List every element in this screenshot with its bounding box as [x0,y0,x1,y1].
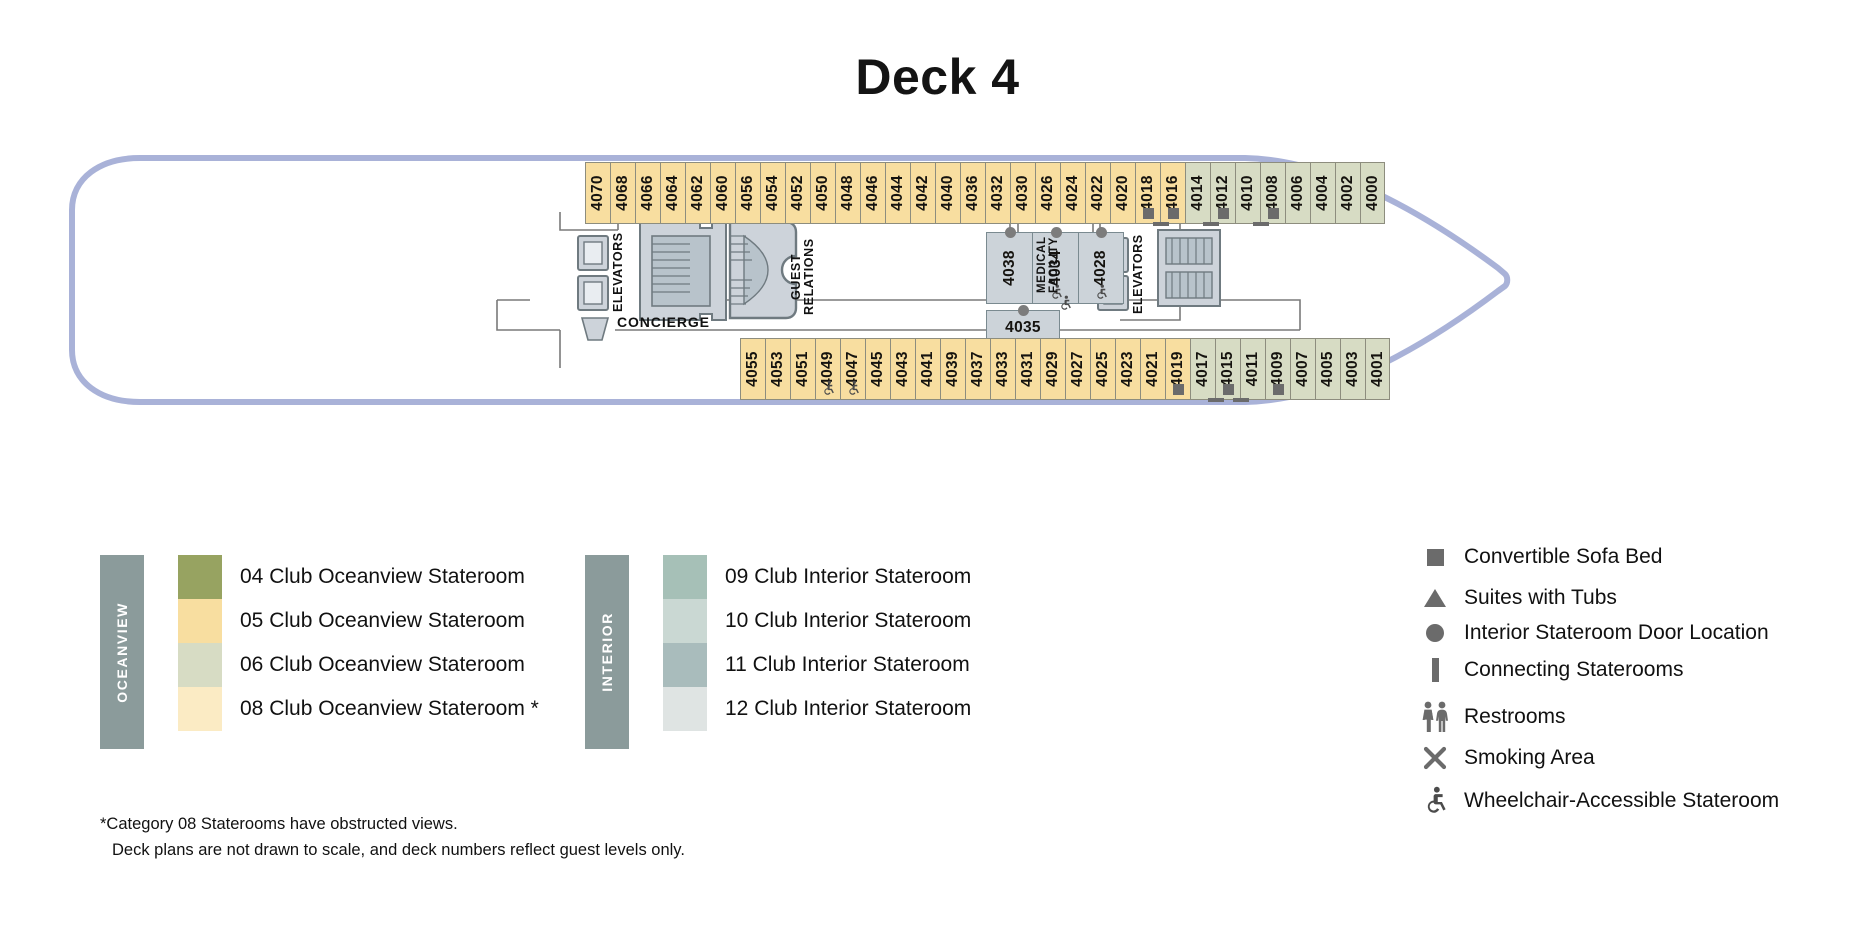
stateroom-4003[interactable]: 4003 [1340,338,1365,400]
stateroom-number: 4015 [1219,351,1237,387]
stateroom-4029[interactable]: 4029 [1040,338,1065,400]
bar-icon [1418,658,1452,682]
stateroom-4053[interactable]: 4053 [765,338,790,400]
stateroom-number: 4022 [1089,175,1107,211]
stateroom-number: 4011 [1244,352,1262,387]
stateroom-number: 4003 [1344,351,1362,387]
legend-symbol-item[interactable]: Wheelchair-Accessible Stateroom [1418,786,1779,816]
stateroom-number: 4031 [1019,351,1037,387]
stateroom-number: 4041 [919,351,937,387]
stateroom-4041[interactable]: 4041 [915,338,940,400]
stateroom-number: 4017 [1194,351,1212,387]
legend-symbol-item[interactable]: Interior Stateroom Door Location [1418,621,1769,645]
legend-interior-item[interactable]: 11 Club Interior Stateroom [663,643,970,687]
legend-oceanview-item[interactable]: 04 Club Oceanview Stateroom [178,555,525,599]
lower-stateroom-row: 4055405340514049404740454043404140394037… [740,338,1390,400]
stateroom-number: 4001 [1369,351,1387,387]
connecting-staterooms-marker [1203,222,1219,226]
connecting-staterooms-marker [1153,222,1169,226]
legend-symbol-label: Wheelchair-Accessible Stateroom [1464,789,1779,813]
stateroom-4070[interactable]: 4070 [585,162,610,224]
stateroom-number: 4025 [1094,351,1112,387]
convertible-sofa-bed-marker [1173,384,1184,395]
stateroom-4032[interactable]: 4032 [985,162,1010,224]
stateroom-4044[interactable]: 4044 [885,162,910,224]
stateroom-4068[interactable]: 4068 [610,162,635,224]
convertible-sofa-bed-marker [1223,384,1234,395]
stateroom-number: 4030 [1014,175,1032,211]
stateroom-number: 4006 [1289,175,1307,211]
legend-color-swatch [663,687,707,731]
triangle-icon [1418,589,1452,607]
wheelchair-icon [1418,786,1452,816]
stateroom-number: 4023 [1119,351,1137,387]
legend-interior-item[interactable]: 09 Club Interior Stateroom [663,555,971,599]
legend-color-swatch [663,599,707,643]
stateroom-4020[interactable]: 4020 [1110,162,1135,224]
stateroom-4012[interactable]: 4012 [1210,162,1235,224]
stateroom-number: 4000 [1364,175,1382,211]
legend-symbol-label: Connecting Staterooms [1464,658,1683,682]
stateroom-4037[interactable]: 4037 [965,338,990,400]
legend-group-bar-interior: INTERIOR [585,555,629,749]
stateroom-number: 4068 [614,175,632,211]
legend-symbol-label: Restrooms [1464,705,1566,729]
convertible-sofa-bed-marker [1168,208,1179,219]
legend-group-label: OCEANVIEW [114,602,130,703]
convertible-sofa-bed-marker [1273,384,1284,395]
stateroom-4015[interactable]: 4015 [1215,338,1240,400]
stateroom-number: 4062 [689,175,707,211]
legend-label: 12 Club Interior Stateroom [725,697,971,721]
stateroom-number: 4050 [814,175,832,211]
legend-label: 06 Club Oceanview Stateroom [240,653,525,677]
legend-symbol-label: Convertible Sofa Bed [1464,545,1662,569]
stateroom-4062[interactable]: 4062 [685,162,710,224]
stateroom-4043[interactable]: 4043 [890,338,915,400]
stateroom-4017[interactable]: 4017 [1190,338,1215,400]
stateroom-4054[interactable]: 4054 [760,162,785,224]
stateroom-4046[interactable]: 4046 [860,162,885,224]
legend-symbol-item[interactable]: Smoking Area [1418,745,1595,771]
x-icon [1418,745,1452,771]
stateroom-number: 4014 [1189,175,1207,211]
stateroom-number: 4004 [1314,175,1332,211]
stateroom-4052[interactable]: 4052 [785,162,810,224]
stateroom-4005[interactable]: 4005 [1315,338,1340,400]
label-medical-facility: MEDICAL FACILITY [1036,222,1060,308]
stateroom-number: 4042 [914,175,932,211]
stateroom-4064[interactable]: 4064 [660,162,685,224]
label-guest-relations: GUEST RELATIONS [790,222,816,332]
legend-symbol-label: Smoking Area [1464,746,1595,770]
legend-color-swatch [178,687,222,731]
restrooms-icon [1418,701,1452,733]
stateroom-4056[interactable]: 4056 [735,162,760,224]
stateroom-number: 4046 [864,175,882,211]
stateroom-4055[interactable]: 4055 [740,338,765,400]
legend-label: 08 Club Oceanview Stateroom * [240,697,539,721]
stateroom-4039[interactable]: 4039 [940,338,965,400]
stateroom-number: 4020 [1114,175,1132,211]
stateroom-4008[interactable]: 4008 [1260,162,1285,224]
wheelchair-icon [845,380,861,396]
interior-stateroom-door-marker [1018,305,1029,316]
convertible-sofa-bed-marker [1268,208,1279,219]
legend-label: 10 Club Interior Stateroom [725,609,971,633]
stateroom-4051[interactable]: 4051 [790,338,815,400]
stateroom-number: 4027 [1069,351,1087,387]
stateroom-4004[interactable]: 4004 [1310,162,1335,224]
stateroom-4040[interactable]: 4040 [935,162,960,224]
stateroom-number: 4029 [1044,351,1062,387]
stateroom-4018[interactable]: 4018 [1135,162,1160,224]
legend-group-label: INTERIOR [599,612,615,692]
square-icon [1418,549,1452,566]
stateroom-4033[interactable]: 4033 [990,338,1015,400]
stateroom-4007[interactable]: 4007 [1290,338,1315,400]
legend-symbol-label: Suites with Tubs [1464,586,1617,610]
stateroom-4009[interactable]: 4009 [1265,338,1290,400]
stateroom-4025[interactable]: 4025 [1090,338,1115,400]
connecting-staterooms-marker [1208,398,1224,402]
stateroom-number: 4033 [994,351,1012,387]
stateroom-number: 4054 [764,175,782,211]
stateroom-number: 4008 [1264,175,1282,211]
legend-oceanview-item[interactable]: 06 Club Oceanview Stateroom [178,643,525,687]
stateroom-4028[interactable]: 4028 [1078,232,1124,304]
stateroom-4045[interactable]: 4045 [865,338,890,400]
stateroom-4021[interactable]: 4021 [1140,338,1165,400]
stateroom-number: 4009 [1269,351,1287,387]
stateroom-4019[interactable]: 4019 [1165,338,1190,400]
legend-symbol-item[interactable]: Convertible Sofa Bed [1418,545,1662,569]
stateroom-number: 4055 [744,351,762,387]
stateroom-4050[interactable]: 4050 [810,162,835,224]
convertible-sofa-bed-marker [1143,208,1154,219]
upper-stateroom-row: 4070406840664064406240604056405440524050… [585,162,1385,224]
circle-icon [1418,624,1452,642]
stateroom-4022[interactable]: 4022 [1085,162,1110,224]
stateroom-number: 4066 [639,175,657,211]
stateroom-number: 4026 [1039,175,1057,211]
stateroom-4048[interactable]: 4048 [835,162,860,224]
legend-label: 11 Club Interior Stateroom [725,653,970,677]
wheelchair-icon [1093,284,1109,300]
stateroom-4024[interactable]: 4024 [1060,162,1085,224]
stateroom-4038[interactable]: 4038 [986,232,1032,304]
stateroom-4026[interactable]: 4026 [1035,162,1060,224]
stateroom-number: 4048 [839,175,857,211]
footnote-line-2: Deck plans are not drawn to scale, and d… [100,838,685,864]
legend-label: 04 Club Oceanview Stateroom [240,565,525,589]
page-title: Deck 4 [0,48,1875,106]
stateroom-4047[interactable]: 4047 [840,338,865,400]
stateroom-4001[interactable]: 4001 [1365,338,1390,400]
stateroom-number: 4012 [1214,175,1232,211]
stateroom-4016[interactable]: 4016 [1160,162,1185,224]
label-elevators-aft: ELEVATORS [612,232,625,312]
stateroom-number: 4051 [794,351,812,387]
legend-interior-item[interactable]: 12 Club Interior Stateroom [663,687,971,731]
stateroom-4000[interactable]: 4000 [1360,162,1385,224]
stateroom-number: 4038 [1001,250,1019,286]
stateroom-number: 4021 [1144,351,1162,387]
stateroom-4060[interactable]: 4060 [710,162,735,224]
stateroom-number: 4018 [1139,175,1157,211]
wheelchair-icon [820,380,836,396]
stateroom-4036[interactable]: 4036 [960,162,985,224]
stateroom-number: 4002 [1339,175,1357,211]
legend-symbol-item[interactable]: Suites with Tubs [1418,586,1617,610]
label-elevators-fwd: ELEVATORS [1132,234,1145,314]
legend-label: 09 Club Interior Stateroom [725,565,971,589]
stateroom-number: 4028 [1092,250,1110,286]
stateroom-number: 4040 [939,175,957,211]
connecting-staterooms-marker [1233,398,1249,402]
stateroom-4049[interactable]: 4049 [815,338,840,400]
legend-interior-item[interactable]: 10 Club Interior Stateroom [663,599,971,643]
legend-color-swatch [178,555,222,599]
legend-symbol-label: Interior Stateroom Door Location [1464,621,1769,645]
stateroom-4023[interactable]: 4023 [1115,338,1140,400]
convertible-sofa-bed-marker [1218,208,1229,219]
stateroom-4006[interactable]: 4006 [1285,162,1310,224]
legend-group-bar-oceanview: OCEANVIEW [100,555,144,749]
label-concierge: CONCIERGE [617,314,710,330]
stateroom-number: 4044 [889,175,907,211]
stateroom-number: 4024 [1064,175,1082,211]
stateroom-number: 4032 [989,175,1007,211]
stateroom-number: 4070 [589,175,607,211]
stateroom-4066[interactable]: 4066 [635,162,660,224]
footnote-line-1: *Category 08 Staterooms have obstructed … [100,812,685,838]
stateroom-number: 4036 [964,175,982,211]
stateroom-number: 4053 [769,351,787,387]
stateroom-number: 4043 [894,351,912,387]
stateroom-number: 4019 [1169,351,1187,387]
stateroom-4042[interactable]: 4042 [910,162,935,224]
legend-symbol-item[interactable]: Restrooms [1418,701,1566,733]
legend-symbol-item[interactable]: Connecting Staterooms [1418,658,1683,682]
stateroom-number: 4056 [739,175,757,211]
stateroom-number: 4005 [1319,351,1337,387]
stateroom-number: 4035 [1005,319,1041,337]
stateroom-4011[interactable]: 4011 [1240,338,1265,400]
stateroom-4027[interactable]: 4027 [1065,338,1090,400]
stateroom-number: 4016 [1164,175,1182,211]
connecting-staterooms-marker [1253,222,1269,226]
deck-plan: 4070406840664064406240604056405440524050… [0,150,1875,480]
stateroom-number: 4010 [1239,175,1257,211]
stateroom-number: 4039 [944,351,962,387]
footnote: *Category 08 Staterooms have obstructed … [100,812,685,863]
stateroom-4002[interactable]: 4002 [1335,162,1360,224]
stateroom-number: 4037 [969,351,987,387]
stateroom-number: 4052 [789,175,807,211]
stateroom-number: 4007 [1294,351,1312,387]
stateroom-4014[interactable]: 4014 [1185,162,1210,224]
stateroom-number: 4045 [869,351,887,387]
legend-oceanview-item[interactable]: 08 Club Oceanview Stateroom * [178,687,539,731]
legend-color-swatch [663,555,707,599]
legend-oceanview-item[interactable]: 05 Club Oceanview Stateroom [178,599,525,643]
stateroom-4010[interactable]: 4010 [1235,162,1260,224]
legend-color-swatch [663,643,707,687]
stateroom-4031[interactable]: 4031 [1015,338,1040,400]
stateroom-4030[interactable]: 4030 [1010,162,1035,224]
interior-stateroom-door-marker [1005,227,1016,238]
legend-label: 05 Club Oceanview Stateroom [240,609,525,633]
stateroom-number: 4064 [664,175,682,211]
legend-color-swatch [178,643,222,687]
legend-color-swatch [178,599,222,643]
interior-stateroom-door-marker [1096,227,1107,238]
stateroom-number: 4060 [714,175,732,211]
